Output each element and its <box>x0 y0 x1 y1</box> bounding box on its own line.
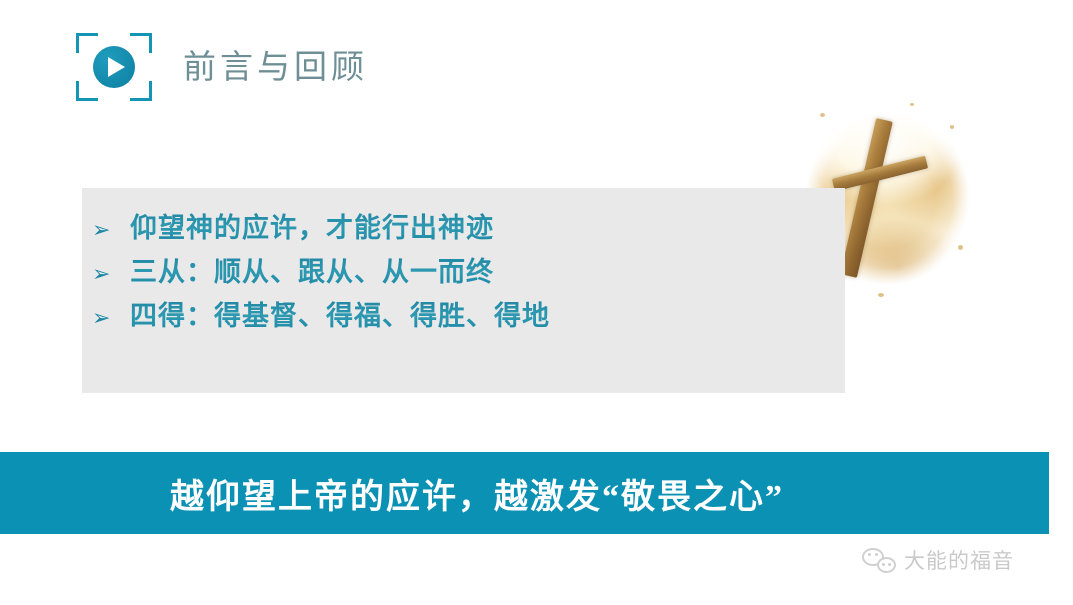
list-item: ➢ 三从：顺从、跟从、从一而终 <box>92 250 792 294</box>
list-item-label: 三从：顺从、跟从、从一而终 <box>130 250 494 289</box>
bullet-list: ➢ 仰望神的应许，才能行出神迹 ➢ 三从：顺从、跟从、从一而终 ➢ 四得：得基督… <box>92 206 792 338</box>
arrow-bullet-icon: ➢ <box>92 219 130 241</box>
frame-corner-top-right-icon <box>130 33 152 53</box>
wechat-icon <box>862 547 896 573</box>
frame-corner-bottom-right-icon <box>130 81 152 101</box>
banner-headline: 越仰望上帝的应许，越激发“敬畏之心” <box>170 469 784 518</box>
list-item-label: 仰望神的应许，才能行出神迹 <box>130 206 494 245</box>
cloud-speck <box>820 113 825 117</box>
cloud-speck <box>910 103 914 106</box>
cloud-speck <box>878 293 884 297</box>
play-triangle-icon <box>108 57 125 77</box>
frame-corner-top-left-icon <box>76 33 98 53</box>
list-item: ➢ 四得：得基督、得福、得胜、得地 <box>92 294 792 338</box>
wechat-dot <box>888 563 891 566</box>
watermark: 大能的福音 <box>862 545 1014 575</box>
wechat-dot <box>875 553 878 556</box>
play-button-in-frame-icon <box>76 33 152 101</box>
cloud-speck <box>950 125 954 129</box>
cloud-speck <box>958 245 963 250</box>
arrow-bullet-icon: ➢ <box>92 307 130 329</box>
frame-corner-bottom-left-icon <box>76 81 98 101</box>
bottom-banner: 越仰望上帝的应许，越激发“敬畏之心” <box>0 452 1049 534</box>
list-item-label: 四得：得基督、得福、得胜、得地 <box>130 294 550 333</box>
arrow-bullet-icon: ➢ <box>92 263 130 285</box>
wechat-bubble-small <box>877 557 896 573</box>
list-item: ➢ 仰望神的应许，才能行出神迹 <box>92 206 792 250</box>
watermark-label: 大能的福音 <box>904 545 1014 575</box>
wechat-dot <box>868 553 871 556</box>
wechat-dot <box>882 563 885 566</box>
page-title: 前言与回顾 <box>183 40 368 88</box>
